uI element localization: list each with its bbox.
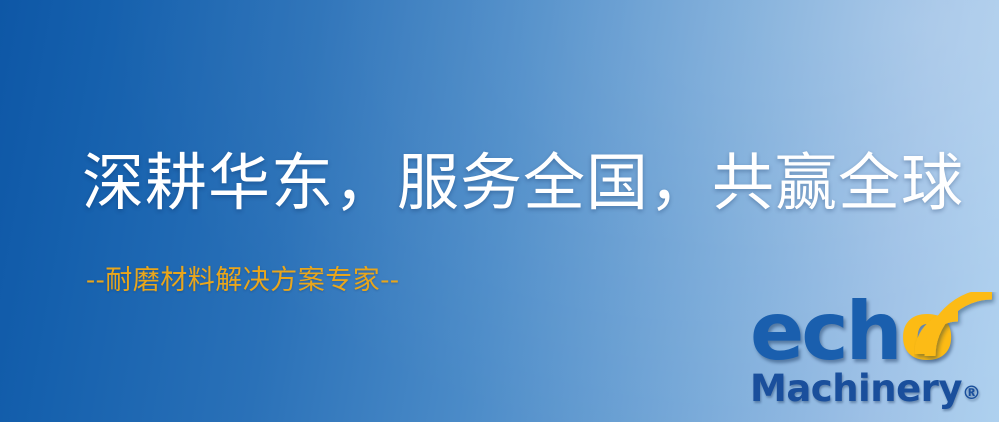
logo-echo-prefix: ech <box>750 285 900 378</box>
hero-banner: 深耕华东，服务全国，共赢全球 --耐磨材料解决方案专家-- echo Machi… <box>0 0 999 422</box>
banner-headline: 深耕华东，服务全国，共赢全球 <box>82 150 964 215</box>
logo-wordmark: echo <box>746 296 994 374</box>
logo-tagline: Machinery® <box>750 370 981 407</box>
company-logo[interactable]: echo Machinery® <box>744 296 994 422</box>
banner-subtitle: --耐磨材料解决方案专家-- <box>86 266 400 296</box>
echo-wave-arcs-icon <box>914 292 999 372</box>
registered-trademark-icon: ® <box>962 382 981 404</box>
logo-tagline-text: Machinery <box>750 367 962 410</box>
